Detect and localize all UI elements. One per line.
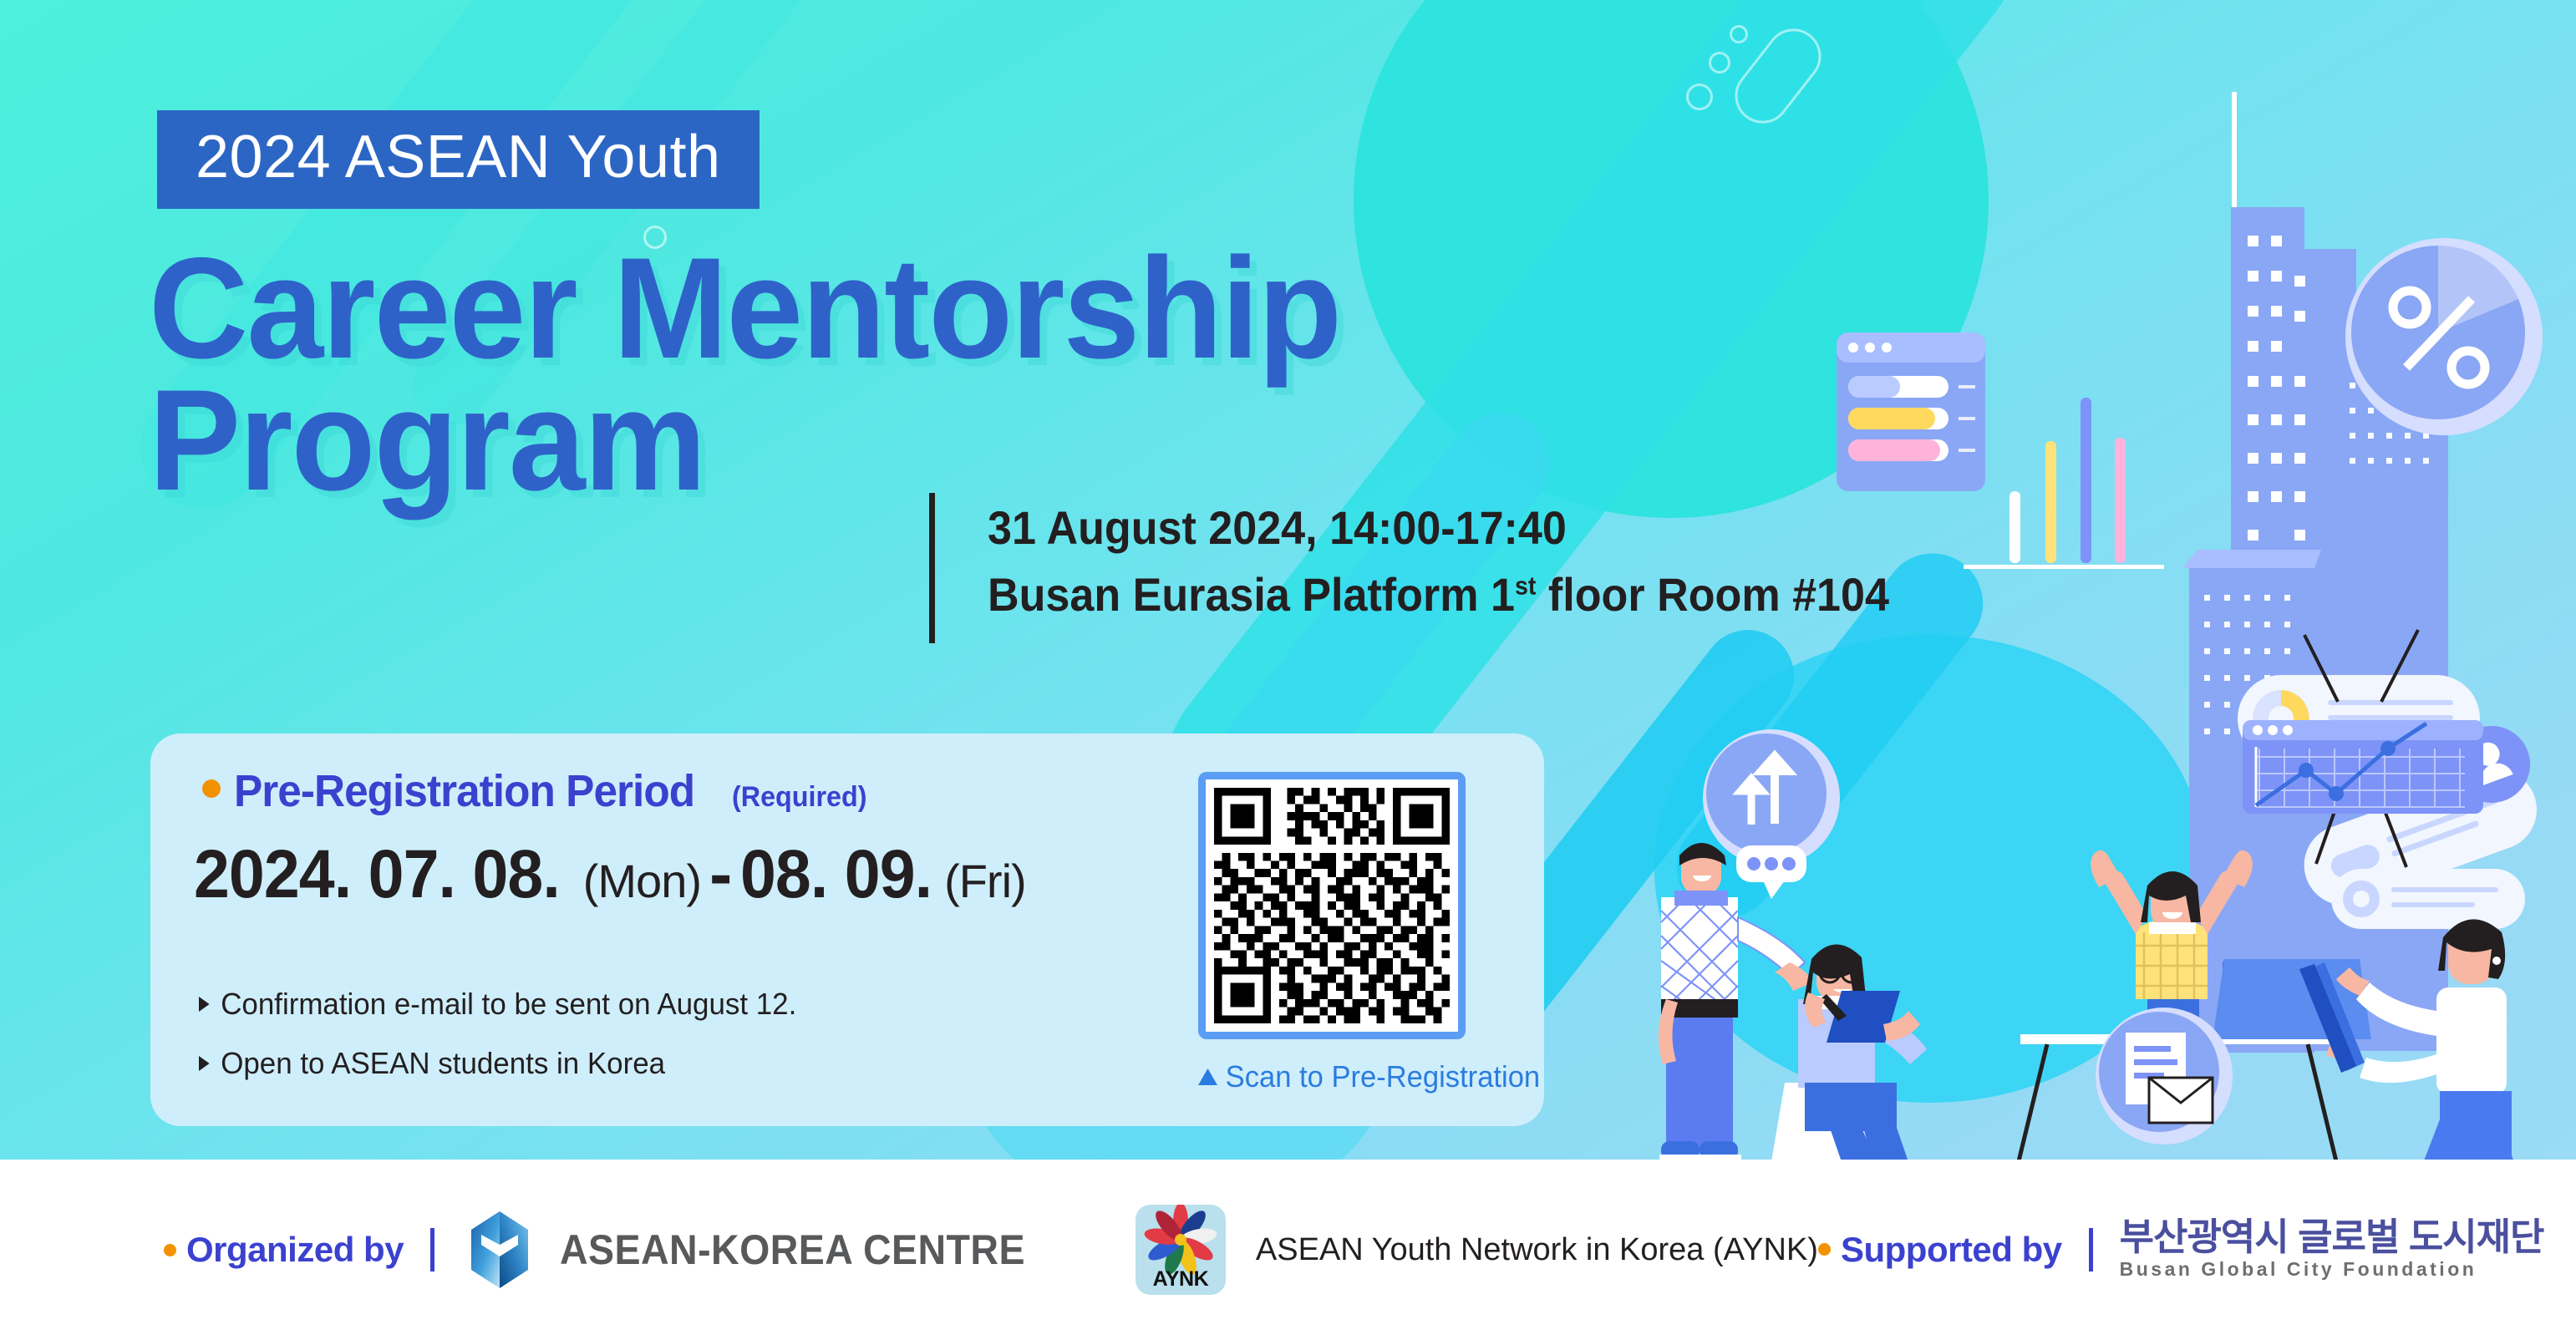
supporter-name-kr: 부산광역시 글로벌 도시재단 [2120, 1217, 2544, 1256]
note-text: Confirmation e-mail to be sent on August… [221, 984, 796, 1025]
meta-divider [929, 493, 935, 643]
bg-ring-small-3 [1730, 25, 1748, 43]
qr-code-block[interactable]: Scan to Pre-Registration [1198, 772, 1554, 1094]
period-end-date: 08. 09. [740, 835, 932, 914]
organized-by-group: Organized by ASEAN-KOREA CENTRE [164, 1208, 1060, 1292]
qr-caption: Scan to Pre-Registration [1198, 1059, 1540, 1094]
organized-by-label: Organized by [186, 1230, 404, 1270]
list-item: Open to ASEAN students in Korea [199, 1043, 796, 1084]
registration-period: 2024. 07. 08.(Mon)-08. 09.(Fri) [194, 835, 1026, 914]
bg-pill-outline [1724, 18, 1832, 135]
event-venue-rest: floor Room #104 [1536, 568, 1889, 621]
city-buildings [2182, 92, 2450, 1053]
supported-by-group: Supported by 부산광역시 글로벌 도시재단 Busan Global… [1818, 1217, 2543, 1282]
promotional-banner: 2024 ASEAN Youth Career Mentorship Progr… [0, 0, 2576, 1340]
event-venue-main: Busan Eurasia Platform 1 [988, 568, 1515, 621]
triangle-bullet-icon [199, 1056, 210, 1071]
title-line-1: Career Mentorship [149, 242, 1713, 374]
small-card-icon [2331, 869, 2525, 929]
registration-heading: Pre-Registration Period (Required) [202, 765, 874, 817]
bullet-dot-icon [1818, 1243, 1831, 1256]
asean-korea-centre-logo [461, 1208, 538, 1292]
event-meta: 31 August 2024, 14:00-17:40 Busan Eurasi… [988, 495, 1957, 627]
period-end-day: (Fri) [944, 855, 1026, 907]
busan-foundation-logo: 부산광역시 글로벌 도시재단 Busan Global City Foundat… [2120, 1217, 2544, 1282]
bg-ring-small-2 [1709, 52, 1730, 74]
registration-required-note: (Required) [732, 781, 867, 814]
note-text: Open to ASEAN students in Korea [221, 1043, 665, 1084]
year-badge-label: 2024 ASEAN Youth [196, 127, 721, 187]
person-at-desk [2019, 850, 2371, 1161]
list-item: Confirmation e-mail to be sent on August… [199, 984, 796, 1025]
bar-chart-icon [1964, 398, 2164, 569]
qr-caption-label: Scan to Pre-Registration [1226, 1059, 1541, 1094]
triangle-bullet-icon [199, 997, 210, 1012]
mail-document-icon [2096, 1008, 2233, 1145]
aynk-logo: AYNK [1136, 1205, 1226, 1295]
profile-card-icon [2279, 715, 2557, 916]
organizer-akc-name: ASEAN-KOREA CENTRE [560, 1226, 1025, 1274]
footer-divider [2089, 1228, 2093, 1271]
bullet-dot-icon [164, 1244, 176, 1256]
year-badge: 2024 ASEAN Youth [157, 110, 760, 209]
qr-code-image[interactable] [1198, 772, 1466, 1039]
period-dash: - [701, 836, 740, 912]
chat-bubble-icon [1736, 845, 1806, 899]
organizer-aynk-group: AYNK ASEAN Youth Network in Korea (AYNK) [1136, 1205, 1818, 1295]
person-seated-mentee [1766, 944, 1932, 1191]
person-standing-mentor [1659, 843, 1813, 1163]
event-venue: Busan Eurasia Platform 1st floor Room #1… [988, 561, 1889, 628]
growth-arrows-icon [1703, 729, 1840, 866]
percent-donut-icon [2345, 238, 2543, 435]
browser-card-icon [1837, 332, 1985, 491]
period-start-date: 2024. 07. 08. [194, 835, 560, 914]
supported-by-label: Supported by [1841, 1230, 2062, 1270]
page-title: Career Mentorship Program [149, 242, 1778, 506]
title-line-2: Program [149, 374, 1713, 506]
supporter-name-en: Busan Global City Foundation [2120, 1257, 2544, 1282]
donut-card-icon [2238, 675, 2480, 762]
event-venue-ordinal: st [1515, 571, 1536, 600]
footer: Organized by ASEAN-KOREA CENTRE [0, 1160, 2576, 1340]
bg-blob-cyan-mid [1654, 635, 2206, 1103]
triangle-up-icon [1198, 1068, 1217, 1085]
organizer-aynk-name: ASEAN Youth Network in Korea (AYNK) [1256, 1232, 1818, 1268]
event-datetime: 31 August 2024, 14:00-17:40 [988, 495, 1889, 561]
organized-by-label-wrap: Organized by [164, 1230, 404, 1270]
qr-code-svg [1214, 788, 1450, 1023]
line-chart-board [2243, 630, 2483, 867]
footer-divider [430, 1228, 434, 1271]
registration-notes: Confirmation e-mail to be sent on August… [199, 984, 815, 1102]
period-start-day: (Mon) [583, 855, 701, 907]
aynk-logo-text: AYNK [1136, 1267, 1226, 1292]
supported-by-label-wrap: Supported by [1818, 1230, 2062, 1270]
bg-ring-small-1 [1686, 84, 1713, 110]
bullet-dot-icon [202, 779, 221, 798]
registration-heading-label: Pre-Registration Period [234, 765, 694, 817]
